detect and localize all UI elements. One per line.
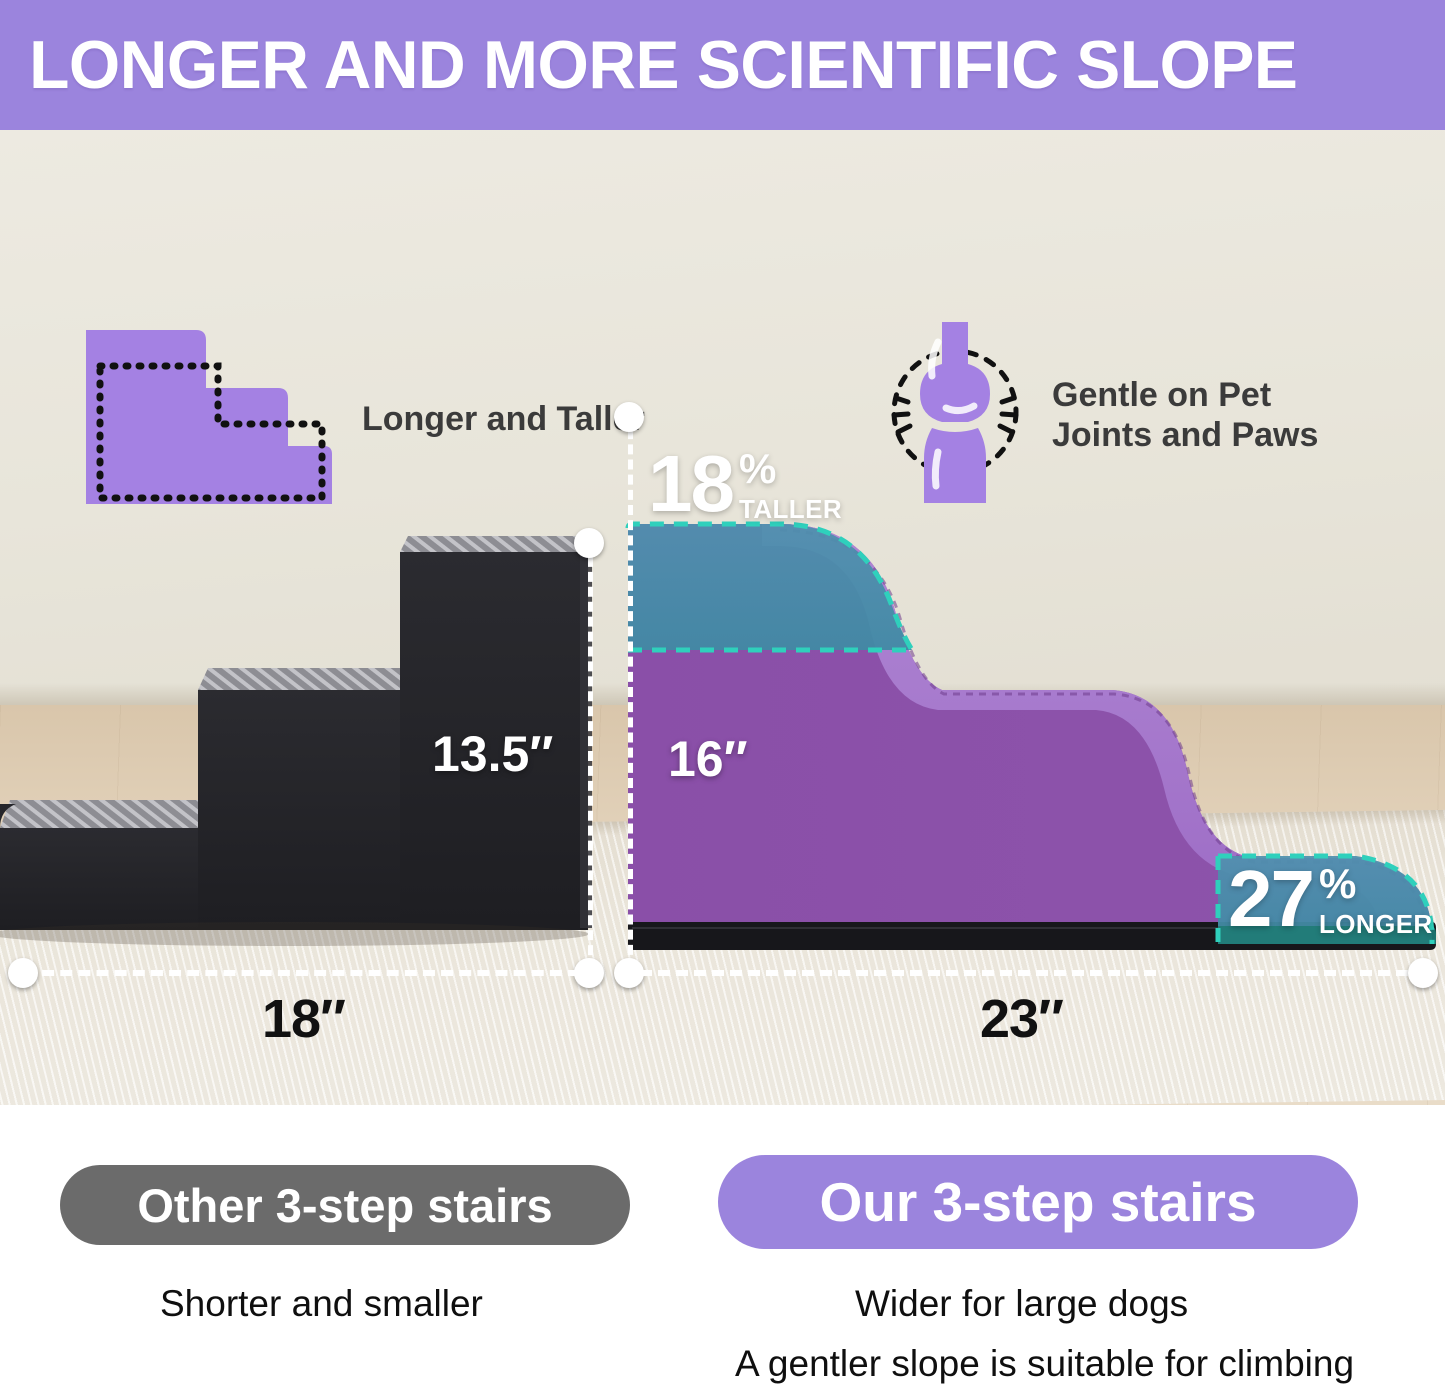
bottom-label-area: Other 3-step stairs Our 3-step stairs Sh… [0,1105,1445,1399]
other-stairs-product [0,528,594,973]
product-photo-stage: Longer and Taller [0,130,1445,1105]
feature-label: Longer and Taller [362,399,645,439]
infographic-page: LONGER AND MORE SCIENTIFIC SLOPE Longer … [0,0,1445,1399]
stairs-icon [78,322,340,517]
other-stairs-pill: Other 3-step stairs [60,1165,630,1245]
our-stairs-caption-line-1: Wider for large dogs [855,1283,1188,1325]
other-stairs-caption: Shorter and smaller [160,1283,483,1325]
header-banner: LONGER AND MORE SCIENTIFIC SLOPE [0,0,1445,130]
page-title: LONGER AND MORE SCIENTIFIC SLOPE [0,26,1297,104]
our-stairs-product [612,378,1445,978]
our-stairs-caption-line-2: A gentler slope is suitable for climbing [735,1343,1354,1385]
feature-longer-and-taller: Longer and Taller [78,322,645,517]
our-stairs-pill: Our 3-step stairs [718,1155,1358,1249]
